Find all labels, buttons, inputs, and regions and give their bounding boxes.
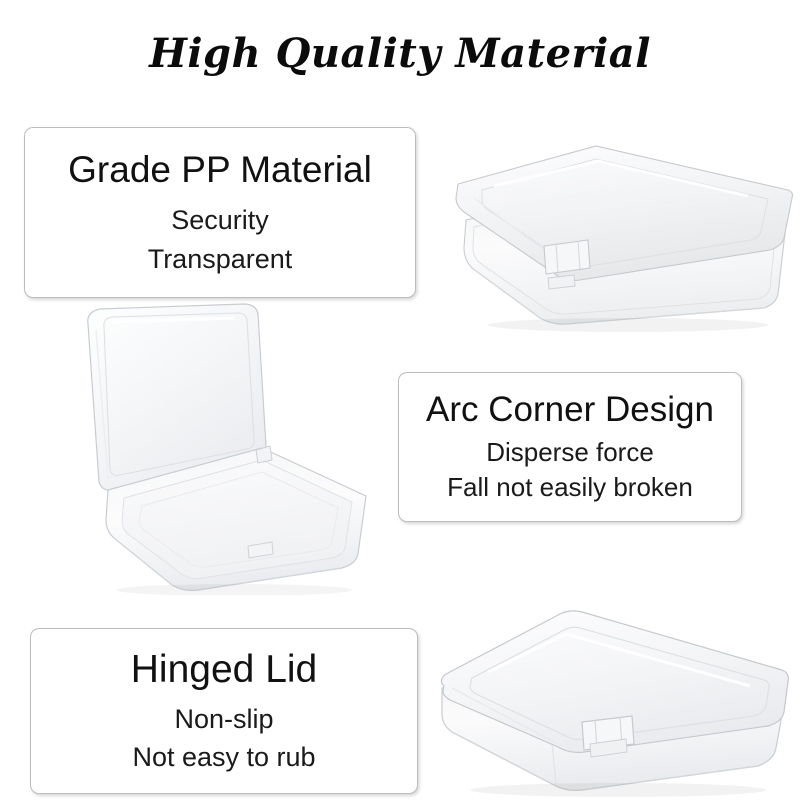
feature-line-fall-not-easily-broken: Fall not easily broken [447, 473, 693, 502]
feature-heading-grade-pp-material: Grade PP Material [68, 151, 372, 189]
page-title: High Quality Material [0, 30, 800, 77]
feature-line-security: Security [171, 205, 269, 235]
feature-line-transparent: Transparent [148, 244, 293, 274]
feature-heading-arc-corner-design: Arc Corner Design [426, 392, 714, 428]
product-image-box-lid-ajar [448, 128, 796, 333]
feature-card-grade-pp-material: Grade PP Material Security Transparent [24, 127, 416, 298]
feature-card-hinged-lid: Hinged Lid Non-slip Not easy to rub [30, 628, 418, 794]
feature-line-disperse-force: Disperse force [486, 438, 654, 467]
feature-line-not-easy-to-rub: Not easy to rub [132, 742, 315, 772]
feature-heading-hinged-lid: Hinged Lid [131, 650, 317, 691]
product-image-box-lid-open [66, 300, 386, 595]
feature-card-arc-corner-design: Arc Corner Design Disperse force Fall no… [398, 372, 742, 522]
product-image-box-lid-closed [432, 592, 794, 797]
feature-line-non-slip: Non-slip [174, 704, 273, 734]
